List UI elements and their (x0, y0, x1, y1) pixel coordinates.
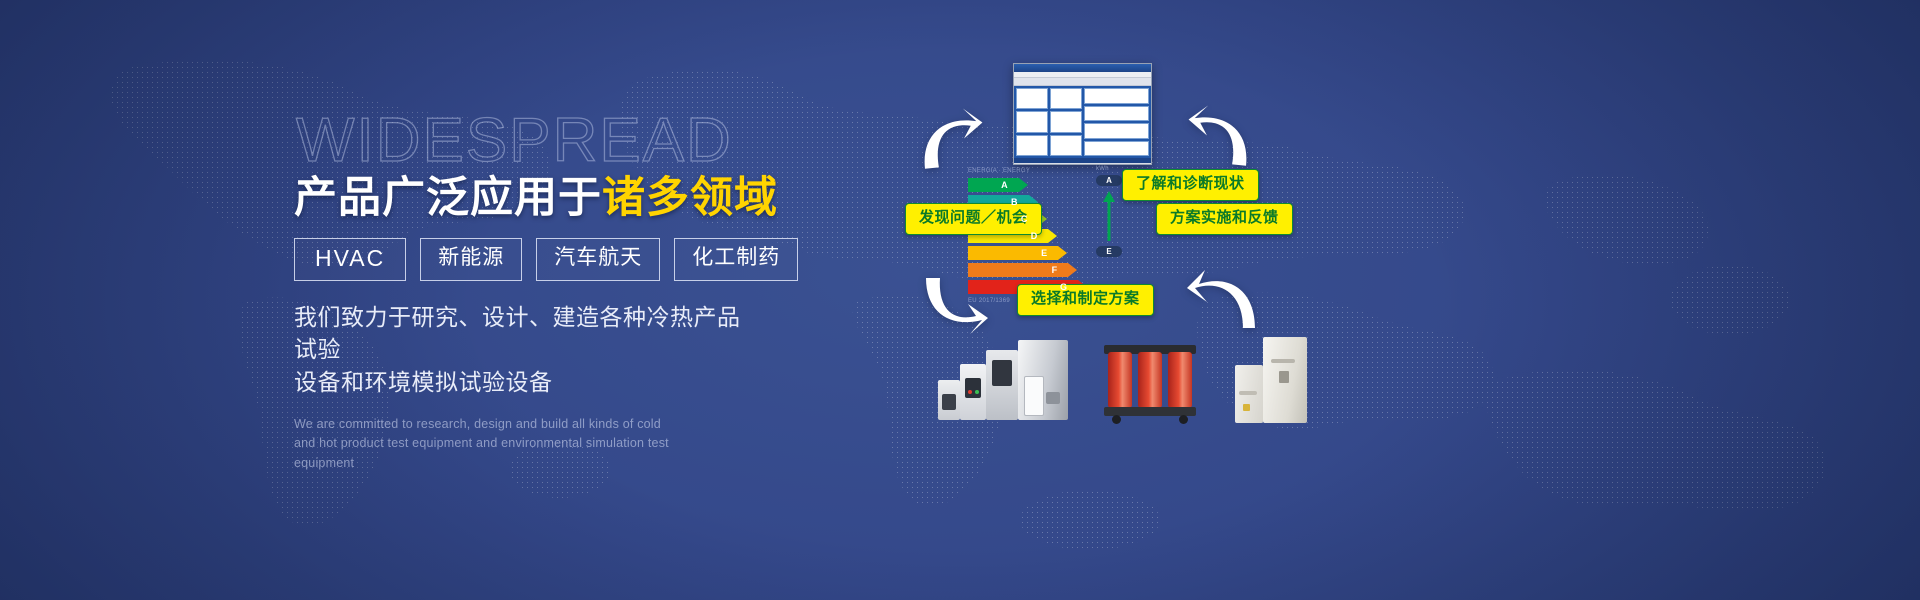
software-panel (1050, 111, 1082, 132)
description-en-line1: We are committed to research, design and… (294, 417, 661, 431)
product-drive-cabinets (938, 340, 1068, 420)
page-title: 产品广泛应用于诸多领域 (294, 174, 764, 222)
software-panel (1016, 88, 1048, 109)
software-toolbar (1014, 78, 1151, 86)
energy-bar-grade: E (1041, 249, 1047, 258)
tag-hvac[interactable]: HVAC (294, 238, 406, 280)
energy-bar-grade: C (1021, 215, 1028, 224)
software-panel (1016, 111, 1048, 132)
label-select-plan[interactable]: 选择和制定方案 (1017, 284, 1154, 316)
energy-scale-top: A (1096, 175, 1122, 186)
label-diagnose-status[interactable]: 了解和诊断现状 (1122, 169, 1259, 201)
arrow-top-right (1185, 105, 1257, 167)
description-cn: 我们致力于研究、设计、建造各种冷热产品试验 设备和环境模拟试验设备 (294, 301, 754, 399)
software-panel-column-left (1016, 88, 1082, 156)
label-implement-feedback[interactable]: 方案实施和反馈 (1156, 203, 1293, 235)
product-switchgear-cabinet (1235, 337, 1307, 423)
software-panel (1084, 123, 1150, 139)
software-workspace (1014, 86, 1151, 158)
software-statusbar (1014, 158, 1151, 163)
description-cn-line2: 设备和环境模拟试验设备 (294, 369, 553, 395)
software-panel (1050, 135, 1082, 156)
description-en: We are committed to research, design and… (294, 415, 714, 474)
headline-plain: 产品广泛应用于 (294, 174, 602, 222)
energy-bar-a: A (968, 178, 1078, 192)
software-panel (1084, 106, 1150, 122)
software-panel-column-right (1084, 88, 1150, 156)
tag-chemical-pharma[interactable]: 化工制药 (674, 238, 798, 280)
energy-bar-grade: B (1011, 198, 1018, 207)
energy-bar-grade: F (1052, 266, 1058, 275)
hero-banner: WIDESPREAD 产品广泛应用于诸多领域 HVAC 新能源 汽车航天 化工制… (0, 0, 1920, 600)
energy-bar-e: E (968, 246, 1078, 260)
description-cn-line1: 我们致力于研究、设计、建造各种冷热产品试验 (294, 304, 741, 363)
software-panel (1084, 88, 1150, 104)
software-titlebar (1014, 64, 1151, 72)
headline-highlight: 诸多领域 (602, 174, 778, 222)
industry-tag-list: HVAC 新能源 汽车航天 化工制药 (294, 238, 764, 280)
software-panel (1050, 88, 1082, 109)
tag-new-energy[interactable]: 新能源 (420, 238, 522, 280)
arrow-top-left (914, 108, 986, 170)
software-panel (1016, 135, 1048, 156)
software-screenshot (1013, 63, 1152, 165)
energy-scale-arrow-icon (1096, 189, 1122, 243)
hero-text-block: WIDESPREAD 产品广泛应用于诸多领域 HVAC 新能源 汽车航天 化工制… (294, 110, 764, 474)
description-en-line2: and hot product test equipment and envir… (294, 436, 669, 470)
energy-scale-bottom: E (1096, 246, 1122, 257)
tag-auto-aerospace[interactable]: 汽车航天 (536, 238, 660, 280)
software-panel (1084, 141, 1150, 157)
energy-bar-grade: G (1060, 283, 1067, 292)
energy-bar-grade: A (1001, 181, 1008, 190)
energy-bar-grade: D (1031, 232, 1038, 241)
process-cycle-diagram: ENERGIA · ENERGY A B C D E F G EU 2017/1… (900, 0, 1920, 600)
arrow-bottom-right (1185, 262, 1257, 334)
ghost-title: WIDESPREAD (296, 110, 764, 172)
product-dry-transformer (1100, 345, 1200, 423)
arrow-bottom-left (916, 272, 988, 338)
